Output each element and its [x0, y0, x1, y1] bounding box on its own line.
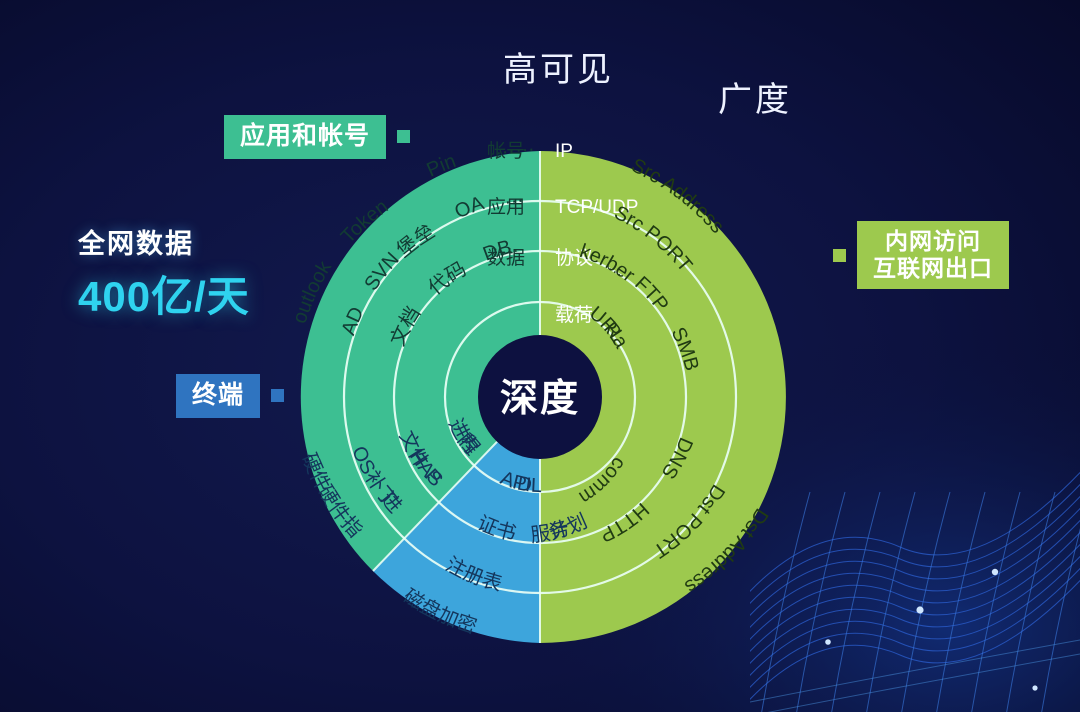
square-marker-icon — [397, 130, 410, 143]
hub-label: 深度 — [500, 378, 580, 420]
sunburst-diagram: 深度 帐号 IP 应用 TCP/UDP 数据 协议 载荷 outlook Tok… — [263, 120, 817, 674]
label-outer-ellipsis: …… — [493, 134, 536, 160]
square-marker-icon — [271, 389, 284, 402]
tag-intranet-line2: 互联网出口 — [873, 255, 993, 282]
square-marker-icon — [833, 249, 846, 262]
tag-intranet-access[interactable]: 内网访问 互联网出口 — [833, 221, 1009, 289]
axis-label-ip: IP — [555, 141, 573, 162]
axis-label-payload: 载荷 — [555, 304, 593, 326]
header-visibility: 高可见 — [503, 42, 614, 91]
stat-caption: 全网数据 — [78, 222, 250, 261]
tag-endpoint[interactable]: 终端 — [176, 374, 284, 418]
stat-block: 全网数据 400亿/天 — [78, 222, 250, 324]
tag-apps-accounts[interactable]: 应用和帐号 — [224, 115, 410, 159]
tag-intranet-line1: 内网访问 — [873, 228, 993, 255]
tag-endpoint-label: 终端 — [176, 374, 260, 418]
tag-intranet-access-label: 内网访问 互联网出口 — [857, 221, 1009, 289]
stat-value: 400亿/天 — [78, 263, 250, 324]
header-breadth: 广度 — [718, 72, 792, 121]
tag-apps-accounts-label: 应用和帐号 — [224, 115, 386, 159]
